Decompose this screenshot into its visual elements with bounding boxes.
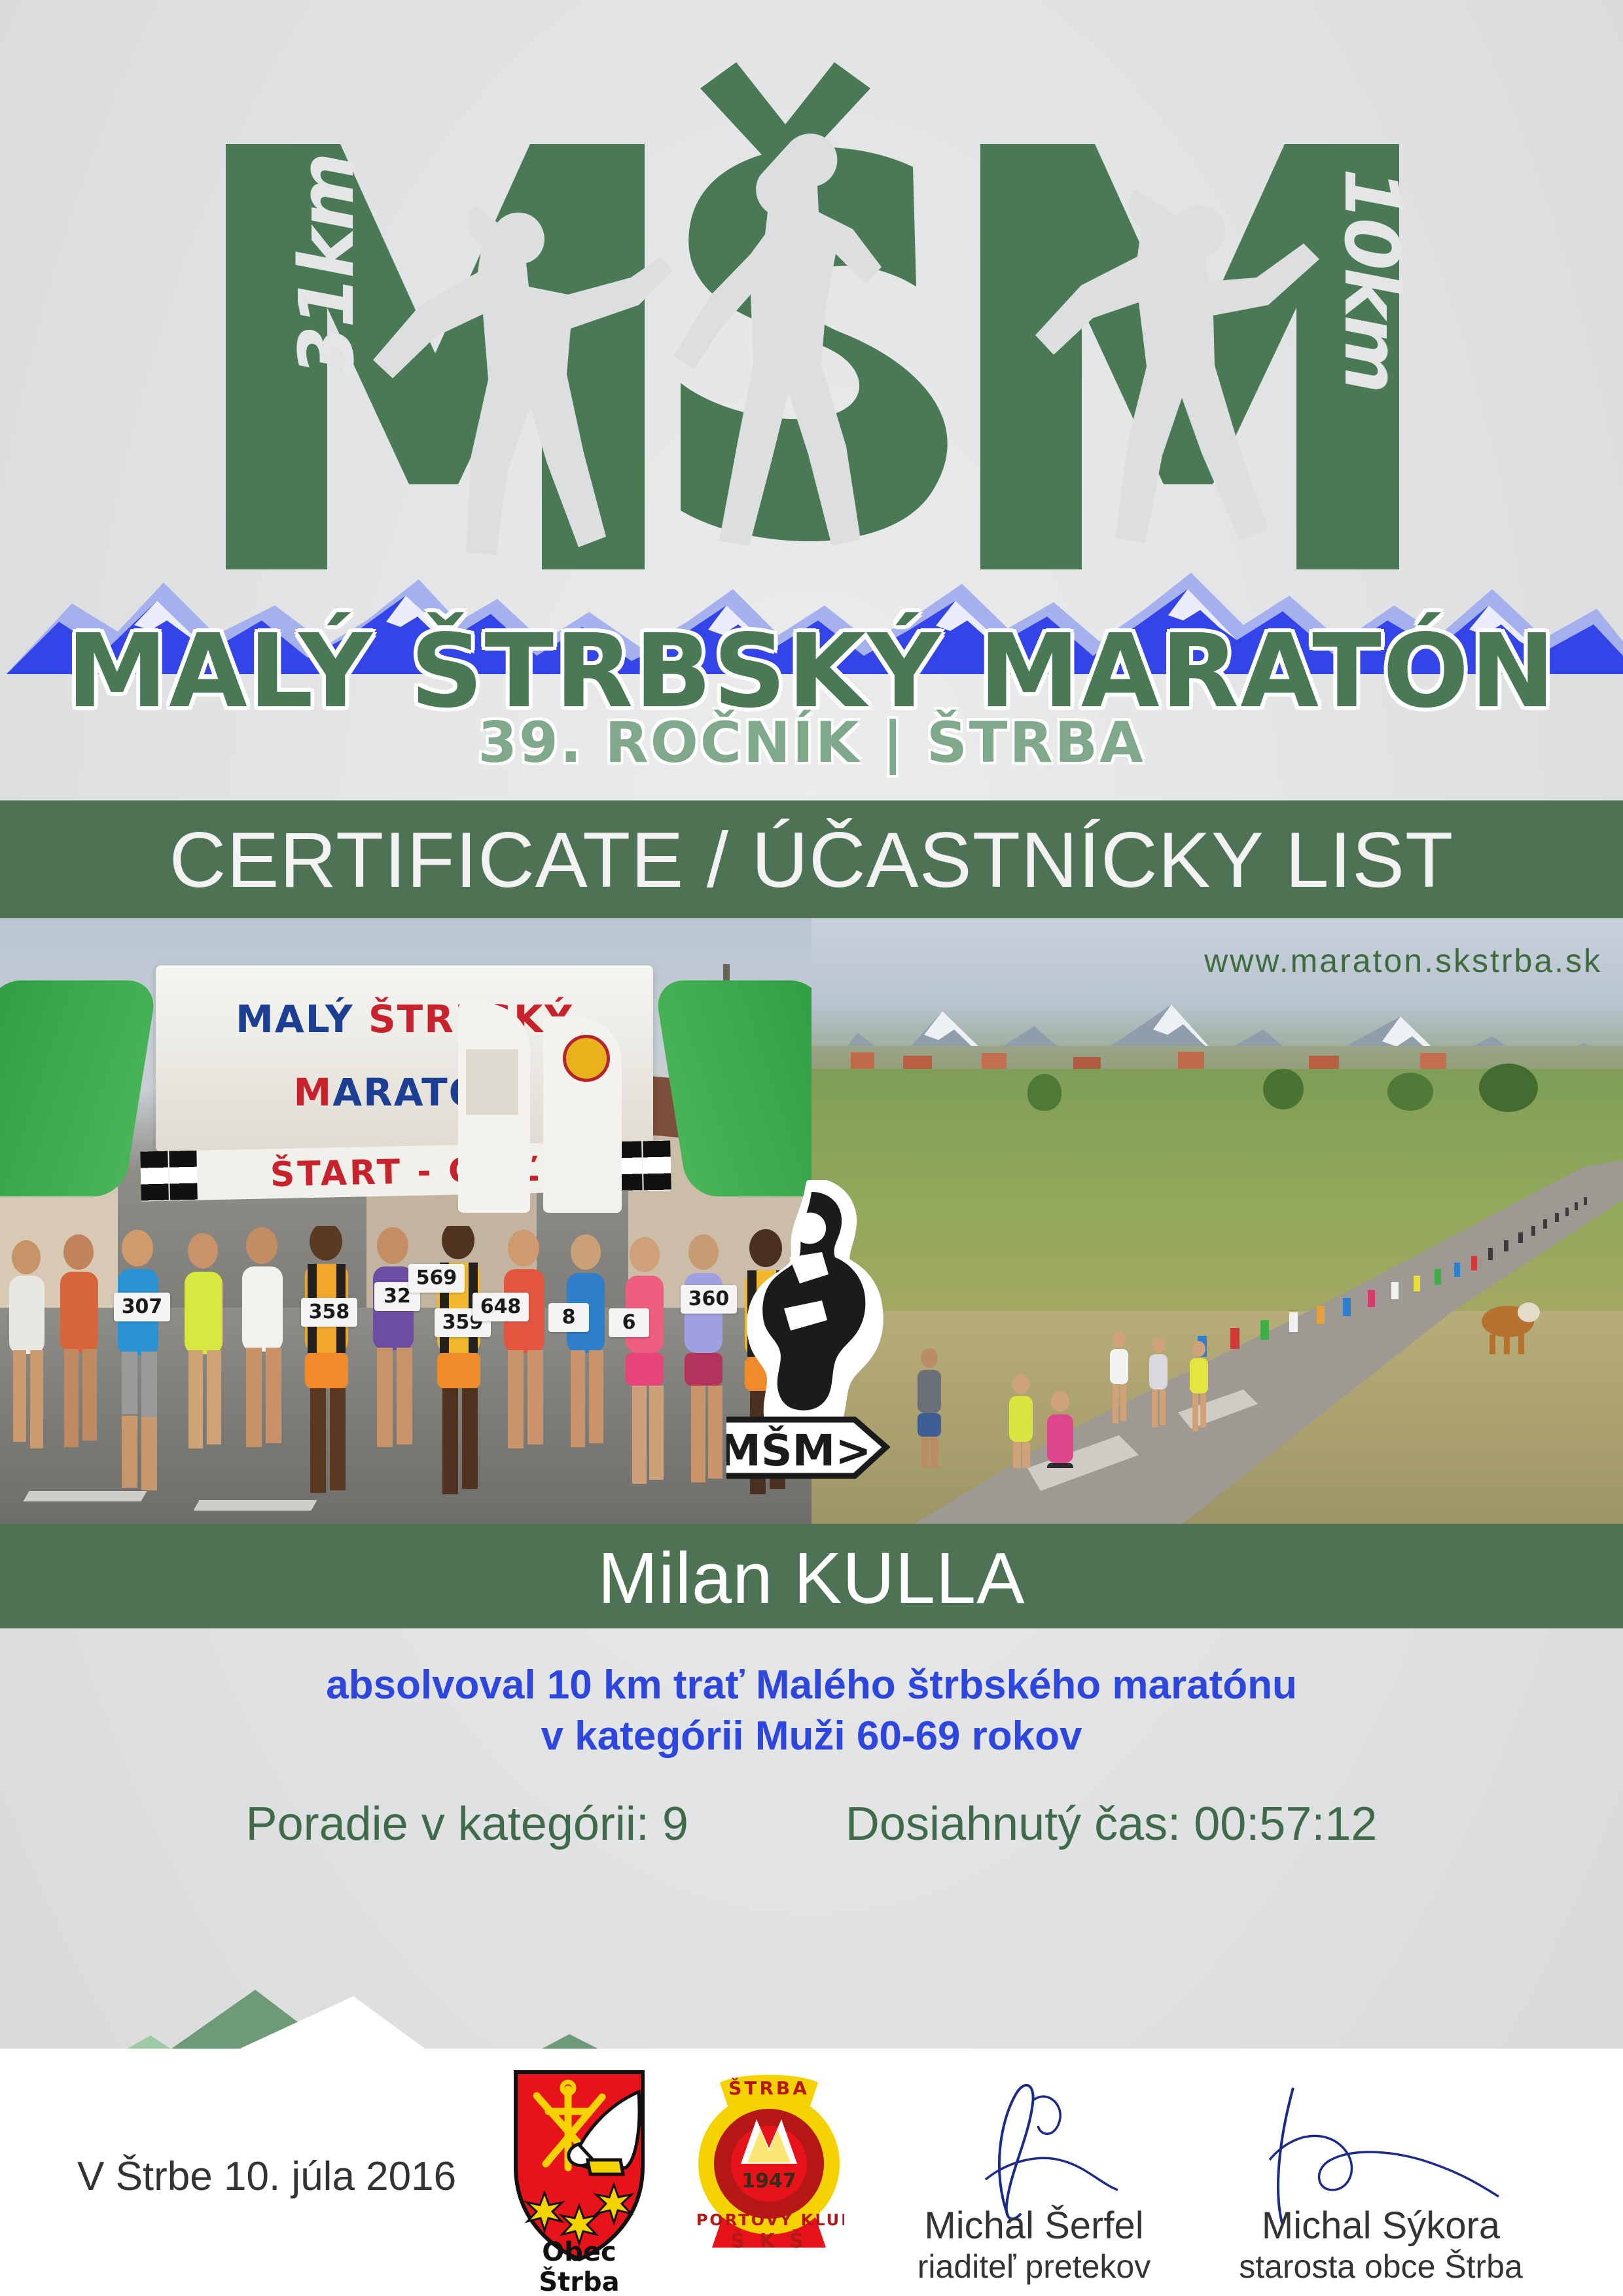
issue-date: V Štrbe 10. júla 2016 xyxy=(77,2153,456,2200)
participant-name: Milan KULLA xyxy=(0,1537,1623,1620)
signature-ink-serfel xyxy=(929,2075,1145,2225)
msm-runner-sticker: <MŠM> xyxy=(726,1180,883,1455)
sticker-label: <MŠM> xyxy=(726,1426,872,1476)
obec-strba-coat-of-arms xyxy=(510,2068,648,2265)
photo-strip: MALÝ ŠTRBSKÝ MARATÓN ŠTART - CIEĽ xyxy=(0,918,1623,1524)
signature-block-2: Michal Sýkora starosta obce Štrba xyxy=(1152,2204,1610,2286)
runner-crowd xyxy=(0,1226,811,1524)
signature-role-2: starosta obce Štrba xyxy=(1152,2248,1610,2286)
footer: V Štrbe 10. júla 2016 xyxy=(0,2062,1623,2296)
header-logo-area: 31km 10km MALÝ ŠTRBSKÝ MARATÓN 39. ROČNÍ… xyxy=(0,0,1623,802)
event-subtitle: 39. ROČNÍK | ŠTRBA xyxy=(0,710,1623,776)
sks-ring-text: ŠPORTOVÝ KLUB xyxy=(694,2210,844,2229)
runner-stream xyxy=(811,1193,1623,1468)
participant-name-bar: Milan KULLA xyxy=(0,1524,1623,1628)
photo-countryside: www.maraton.skstrba.sk xyxy=(811,918,1623,1524)
sks-year: 1947 xyxy=(741,2170,796,2193)
distance-left-label: 31km xyxy=(283,155,371,378)
sks-club-emblem: ŠTRBA 1947 ŠPORTOVÝ KLUB Š K Š xyxy=(694,2066,844,2262)
bib-number: 648 xyxy=(473,1293,529,1321)
description-line-2: v kategórii Muži 60-69 rokov xyxy=(0,1711,1623,1762)
sks-top-text: ŠTRBA xyxy=(728,2077,810,2099)
bib-number: 307 xyxy=(114,1293,170,1321)
bib-number: 358 xyxy=(301,1298,357,1327)
photo-start-line: MALÝ ŠTRBSKÝ MARATÓN ŠTART - CIEĽ xyxy=(0,918,811,1524)
msm-logo: 31km 10km xyxy=(0,26,1623,563)
certificate-page: 31km 10km MALÝ ŠTRBSKÝ MARATÓN 39. ROČNÍ… xyxy=(0,0,1623,2296)
bib-number: 8 xyxy=(548,1303,589,1332)
description-line-1: absolvoval 10 km trať Malého štrbského m… xyxy=(0,1660,1623,1711)
obec-strba-label: Obec Štrba xyxy=(497,2237,661,2296)
sks-initials: Š K Š xyxy=(730,2229,807,2253)
result-values: Poradie v kategórii: 9 Dosiahnutý čas: 0… xyxy=(0,1797,1623,1851)
result-body: absolvoval 10 km trať Malého štrbského m… xyxy=(0,1628,1623,1923)
category-rank: Poradie v kategórii: 9 xyxy=(246,1797,688,1851)
bib-number: 6 xyxy=(609,1308,649,1337)
finish-time: Dosiahnutý čas: 00:57:12 xyxy=(846,1797,1378,1851)
signature-name-2: Michal Sýkora xyxy=(1152,2204,1610,2248)
arch-left-leg xyxy=(0,980,158,1196)
certificate-heading: CERTIFICATE / ÚČASTNÍCKY LIST xyxy=(0,815,1623,905)
website-url: www.maraton.skstrba.sk xyxy=(1204,942,1602,980)
distance-right-label: 10km xyxy=(1327,168,1415,391)
bib-number: 569 xyxy=(408,1264,465,1293)
result-description: absolvoval 10 km trať Malého štrbského m… xyxy=(0,1660,1623,1762)
certificate-heading-bar: CERTIFICATE / ÚČASTNÍCKY LIST xyxy=(0,800,1623,918)
